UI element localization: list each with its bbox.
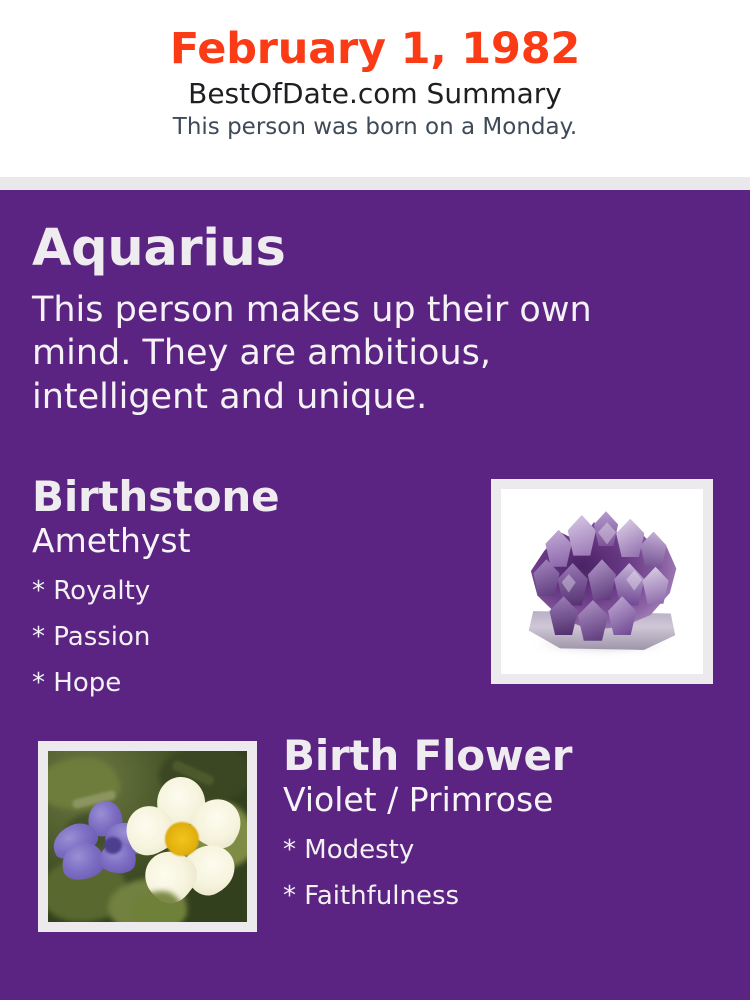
list-item: * Passion — [32, 604, 462, 650]
list-item: * Royalty — [32, 558, 462, 604]
birthstone-photo-frame — [491, 479, 713, 684]
zodiac-description: This person makes up their own mind. The… — [32, 274, 677, 419]
birthstone-heading: Birthstone — [32, 476, 462, 519]
primrose-center — [165, 822, 198, 856]
birthstone-name: Amethyst — [32, 519, 462, 559]
birth-flower-photo — [48, 751, 247, 922]
birthstone-trait-list: * Royalty * Passion * Hope — [32, 558, 462, 696]
birth-flower-trait-list: * Modesty * Faithfulness — [283, 817, 703, 909]
header-divider — [0, 177, 750, 190]
zodiac-section: Aquarius This person makes up their own … — [32, 223, 692, 419]
birthstone-photo — [501, 489, 703, 674]
list-item: * Faithfulness — [283, 863, 703, 909]
born-day-note: This person was born on a Monday. — [0, 110, 750, 141]
card-header: February 1, 1982 BestOfDate.com Summary … — [0, 0, 750, 177]
violet-center — [104, 837, 122, 854]
list-item: * Modesty — [283, 817, 703, 863]
site-subtitle: BestOfDate.com Summary — [0, 72, 750, 109]
page-title: February 1, 1982 — [0, 0, 750, 72]
summary-body: Aquarius This person makes up their own … — [0, 190, 750, 1000]
birthstone-section: Birthstone Amethyst * Royalty * Passion … — [32, 476, 462, 696]
amethyst-illustration — [501, 489, 703, 674]
list-item: * Hope — [32, 650, 462, 696]
primrose-flower — [124, 782, 243, 902]
flower-illustration — [48, 751, 247, 922]
birth-flower-section: Birth Flower Violet / Primrose * Modesty… — [283, 735, 703, 909]
birth-flower-heading: Birth Flower — [283, 735, 703, 778]
bestofdate-summary-card: February 1, 1982 BestOfDate.com Summary … — [0, 0, 750, 1000]
birth-flower-name: Violet / Primrose — [283, 778, 703, 818]
zodiac-sign-name: Aquarius — [32, 223, 692, 274]
birth-flower-photo-frame — [38, 741, 257, 932]
